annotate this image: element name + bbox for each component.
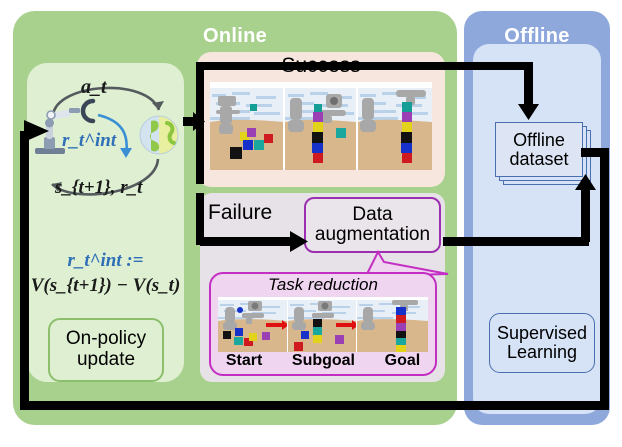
offline-dataset-box[interactable]: Offline dataset [495,122,583,177]
legend-start: Start [226,352,262,370]
loop-label-state-reward: s_{t+1}, r_t [55,177,142,199]
task-reduction-legend: Start Subgoal Goal [211,352,435,370]
data-augmentation-box[interactable]: Data augmentation [304,197,441,253]
failure-label: Failure [208,201,272,225]
task-reduction-box: Task reduction [209,272,437,376]
task-reduction-title: Task reduction [211,275,435,295]
legend-subgoal: Subgoal [292,352,355,370]
globe-icon [140,116,178,154]
success-title: Success [197,54,445,78]
on-policy-update-box[interactable]: On-policy update [48,318,164,382]
failure-card: Failure Data augmentation Task reduction [200,193,445,382]
supervised-learning-box[interactable]: Supervised Learning [489,313,595,373]
rl-loop-graphic: a_t r_t^int s_{t+1}, r_t [27,63,184,243]
success-card: Success [197,52,445,187]
legend-goal: Goal [385,352,421,370]
task-reduction-image [218,297,428,352]
success-rollout-image [210,82,432,170]
rl-loop-card: a_t r_t^int s_{t+1}, r_t r_t^int := V(s_… [27,63,184,382]
loop-label-action: a_t [81,76,107,99]
intrinsic-reward-formula-lhs: r_t^int := [27,250,184,272]
online-panel-title: Online [13,25,457,48]
loop-label-intrinsic-reward: r_t^int [62,130,116,152]
intrinsic-reward-formula-rhs: V(s_{t+1}) − V(s_t) [27,275,184,297]
